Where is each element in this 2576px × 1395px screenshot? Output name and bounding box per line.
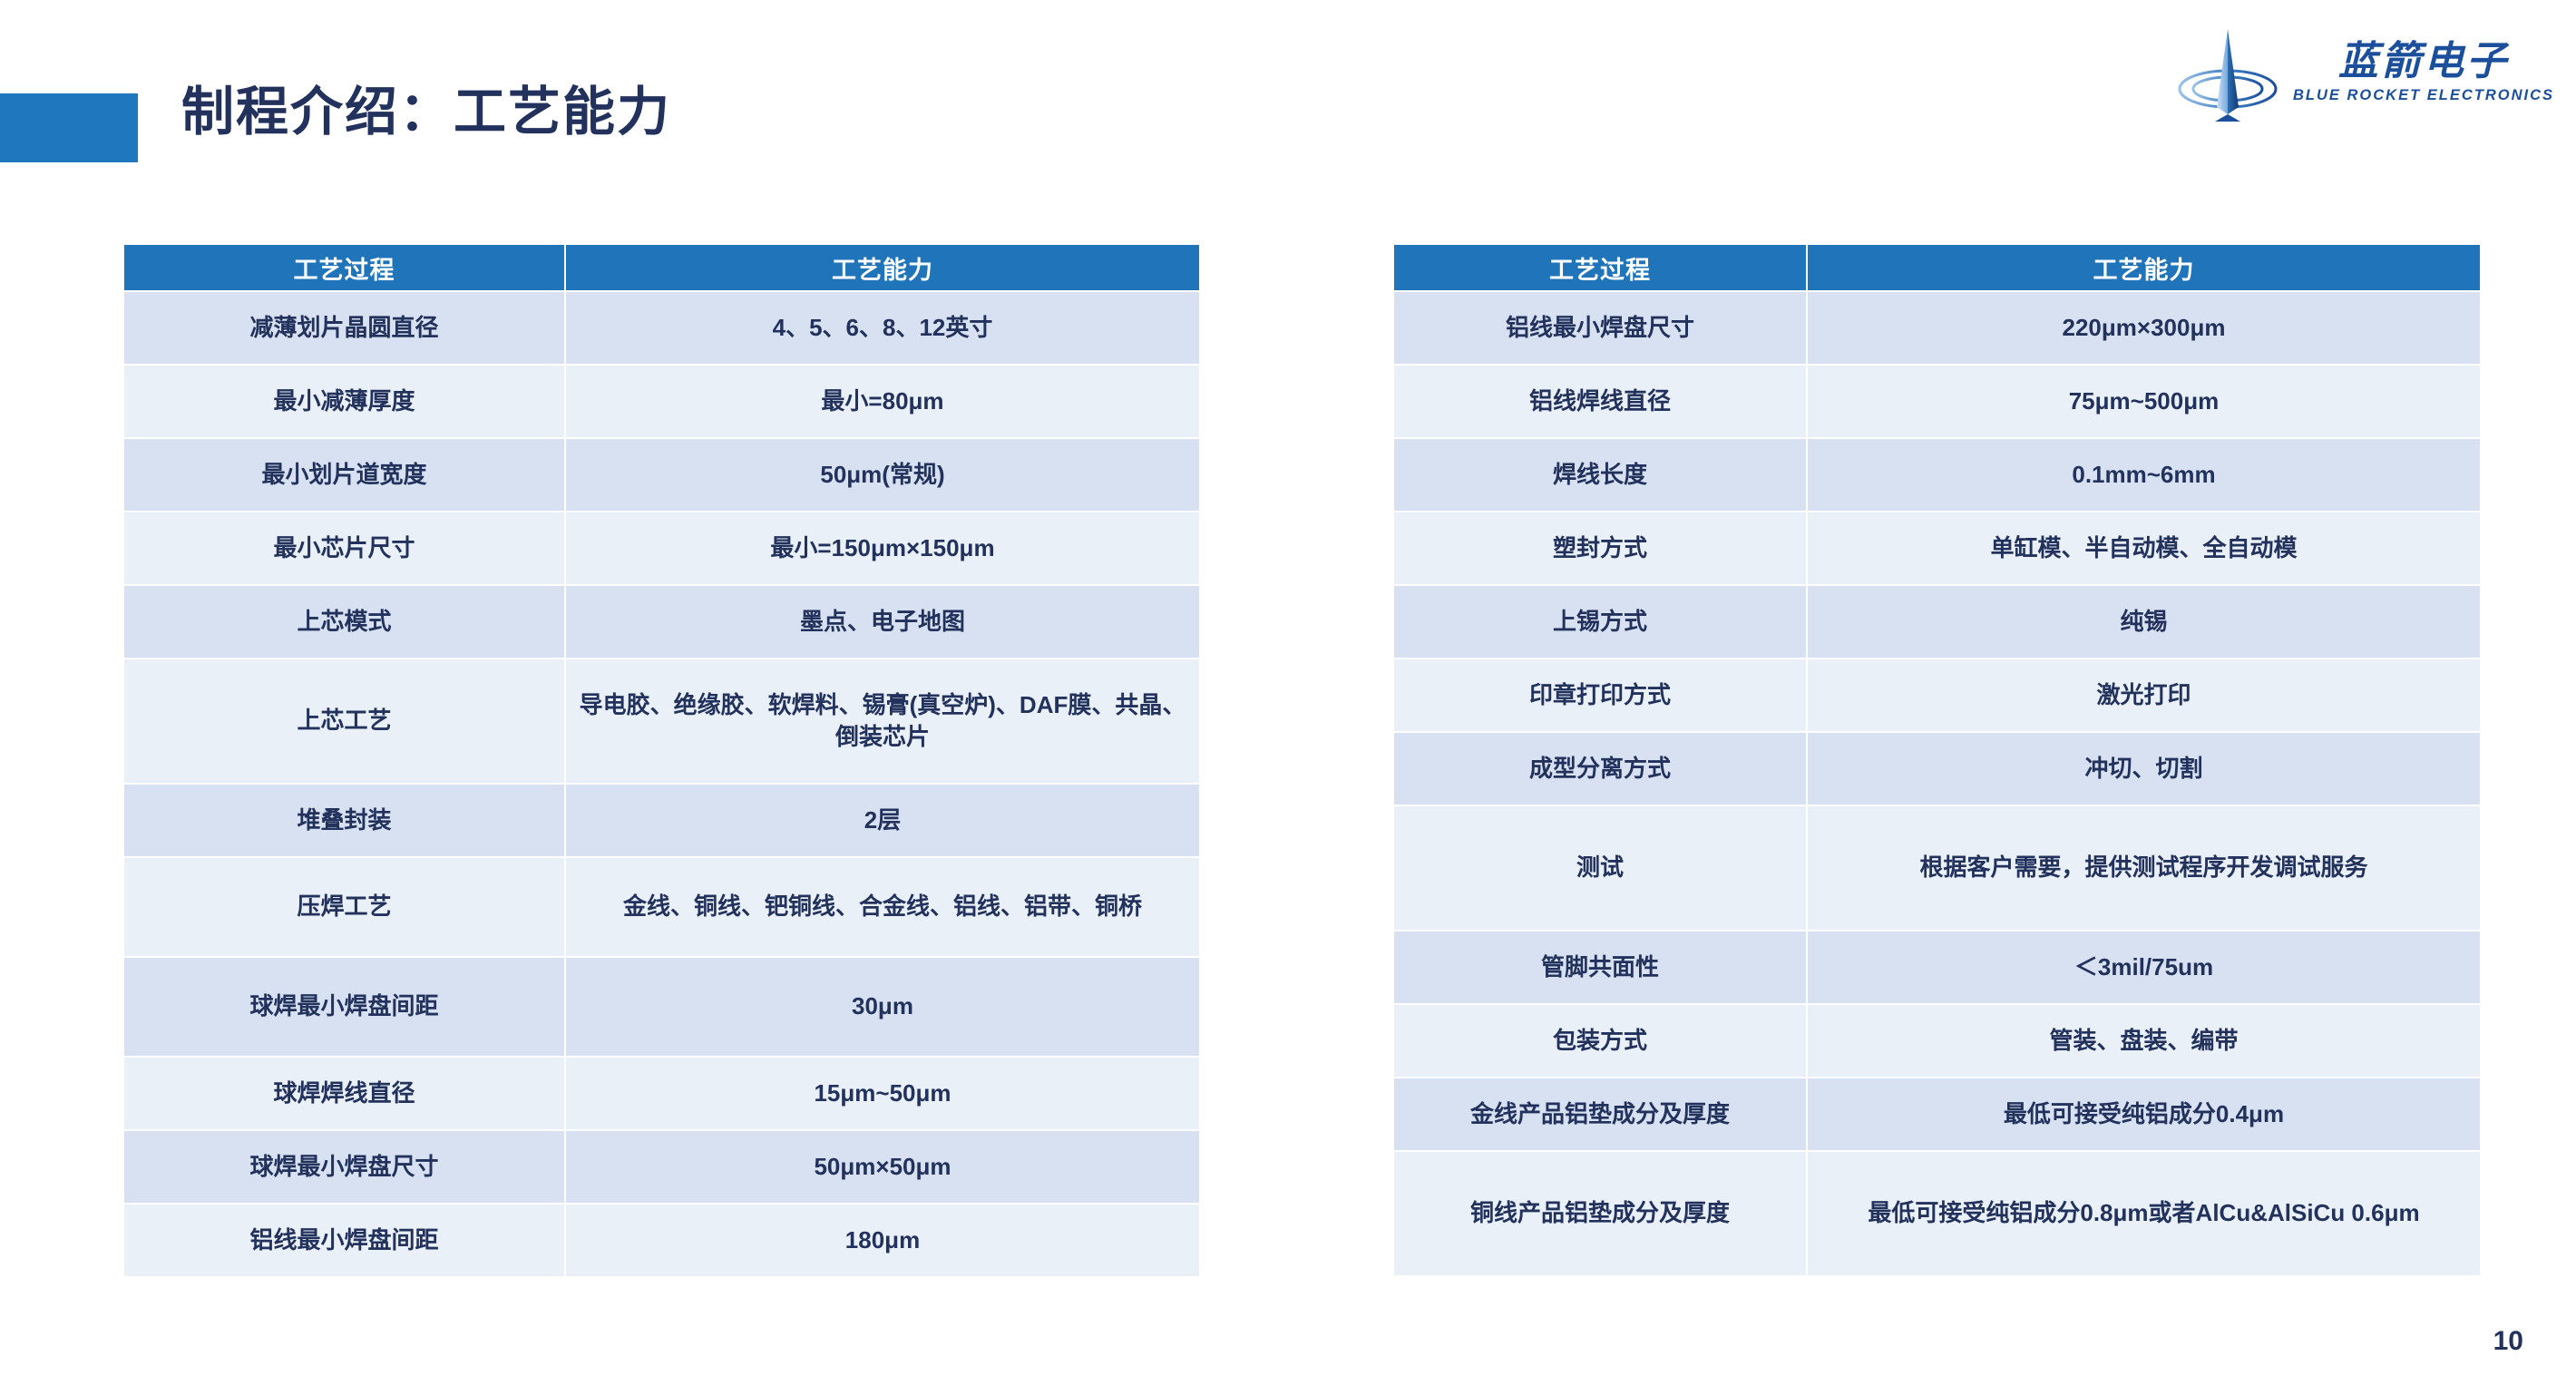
table-row: 铜线产品铝垫成分及厚度最低可接受纯铝成分0.8μm或者AlCu&AlSiCu 0… — [1394, 1152, 2480, 1275]
page-title: 制程介绍：工艺能力 — [181, 80, 671, 146]
cell-process: 最小减薄厚度 — [124, 366, 564, 437]
logo-name-cn: 蓝箭电子 — [2338, 41, 2509, 83]
table-row: 球焊最小焊盘间距30μm — [124, 958, 1199, 1056]
column-header-process: 工艺过程 — [124, 245, 564, 290]
cell-process: 球焊最小焊盘间距 — [124, 958, 564, 1056]
cell-capability: 4、5、6、8、12英寸 — [566, 292, 1199, 364]
table-row: 堆叠封装2层 — [124, 785, 1199, 856]
cell-capability: 50μm(常规) — [566, 439, 1199, 511]
cell-process: 铜线产品铝垫成分及厚度 — [1394, 1152, 1806, 1275]
table-header-row: 工艺过程 工艺能力 — [124, 245, 1199, 290]
table-row: 最小减薄厚度最小=80μm — [124, 366, 1199, 437]
cell-process: 铝线最小焊盘间距 — [124, 1205, 564, 1276]
cell-capability: 0.1mm~6mm — [1808, 439, 2480, 511]
cell-process: 球焊最小焊盘尺寸 — [124, 1131, 564, 1203]
cell-process: 成型分离方式 — [1394, 733, 1806, 805]
table-row: 铝线焊线直径75μm~500μm — [1394, 366, 2480, 437]
cell-process: 上芯工艺 — [124, 659, 564, 783]
cell-process: 焊线长度 — [1394, 439, 1806, 511]
cell-capability: 50μm×50μm — [566, 1131, 1199, 1203]
cell-capability: ＜3mil/75um — [1808, 932, 2480, 1003]
left-spec-table: 工艺过程 工艺能力 减薄划片晶圆直径4、5、6、8、12英寸最小减薄厚度最小=8… — [122, 243, 1201, 1278]
table-row: 压焊工艺金线、铜线、钯铜线、合金线、铝线、铝带、铜桥 — [124, 858, 1199, 956]
table-row: 金线产品铝垫成分及厚度最低可接受纯铝成分0.4μm — [1394, 1078, 2480, 1150]
cell-capability: 15μm~50μm — [566, 1058, 1199, 1129]
cell-process: 减薄划片晶圆直径 — [124, 292, 564, 364]
cell-process: 测试 — [1394, 806, 1806, 930]
cell-capability: 金线、铜线、钯铜线、合金线、铝线、铝带、铜桥 — [566, 858, 1199, 956]
table-row: 管脚共面性＜3mil/75um — [1394, 932, 2480, 1003]
cell-capability: 最低可接受纯铝成分0.4μm — [1808, 1078, 2480, 1150]
table-row: 球焊最小焊盘尺寸50μm×50μm — [124, 1131, 1199, 1203]
table-row: 减薄划片晶圆直径4、5、6、8、12英寸 — [124, 292, 1199, 364]
cell-process: 印章打印方式 — [1394, 659, 1806, 731]
cell-capability: 墨点、电子地图 — [566, 586, 1199, 658]
table-row: 铝线最小焊盘间距180μm — [124, 1205, 1199, 1276]
left-table-body: 减薄划片晶圆直径4、5、6、8、12英寸最小减薄厚度最小=80μm最小划片道宽度… — [124, 292, 1199, 1276]
cell-capability: 单缸模、半自动模、全自动模 — [1808, 512, 2480, 584]
right-spec-table-container: 工艺过程 工艺能力 铝线最小焊盘尺寸220μm×300μm铝线焊线直径75μm~… — [1392, 243, 2476, 1277]
cell-process: 最小划片道宽度 — [124, 439, 564, 511]
cell-process: 包装方式 — [1394, 1005, 1806, 1077]
cell-capability: 最低可接受纯铝成分0.8μm或者AlCu&AlSiCu 0.6μm — [1808, 1152, 2480, 1275]
cell-capability: 最小=80μm — [566, 366, 1199, 437]
cell-capability: 管装、盘装、编带 — [1808, 1005, 2480, 1077]
cell-process: 铝线最小焊盘尺寸 — [1394, 292, 1806, 364]
logo-name-en: BLUE ROCKET ELECTRONICS — [2293, 87, 2554, 104]
cell-process: 塑封方式 — [1394, 512, 1806, 584]
table-row: 塑封方式单缸模、半自动模、全自动模 — [1394, 512, 2480, 584]
cell-process: 球焊焊线直径 — [124, 1058, 564, 1129]
company-logo: 蓝箭电子 BLUE ROCKET ELECTRONICS — [2222, 22, 2554, 123]
cell-process: 最小芯片尺寸 — [124, 512, 564, 584]
page-number: 10 — [2493, 1326, 2523, 1357]
cell-process: 上锡方式 — [1394, 586, 1806, 658]
column-header-capability: 工艺能力 — [566, 245, 1199, 290]
table-row: 上锡方式纯锡 — [1394, 586, 2480, 658]
column-header-process: 工艺过程 — [1394, 245, 1806, 290]
cell-capability: 2层 — [566, 785, 1199, 856]
cell-capability: 最小=150μm×150μm — [566, 512, 1199, 584]
column-header-capability: 工艺能力 — [1808, 245, 2480, 290]
table-row: 铝线最小焊盘尺寸220μm×300μm — [1394, 292, 2480, 364]
cell-process: 管脚共面性 — [1394, 932, 1806, 1003]
right-spec-table: 工艺过程 工艺能力 铝线最小焊盘尺寸220μm×300μm铝线焊线直径75μm~… — [1392, 243, 2482, 1277]
cell-capability: 导电胶、绝缘胶、软焊料、锡膏(真空炉)、DAF膜、共晶、倒装芯片 — [566, 659, 1199, 783]
cell-capability: 根据客户需要，提供测试程序开发调试服务 — [1808, 806, 2480, 930]
cell-process: 上芯模式 — [124, 586, 564, 658]
title-accent-bar — [0, 93, 138, 162]
table-header-row: 工艺过程 工艺能力 — [1394, 245, 2480, 290]
cell-capability: 75μm~500μm — [1808, 366, 2480, 437]
table-row: 最小划片道宽度50μm(常规) — [124, 439, 1199, 511]
cell-capability: 激光打印 — [1808, 659, 2480, 731]
cell-capability: 纯锡 — [1808, 586, 2480, 658]
logo-wordmark: 蓝箭电子 BLUE ROCKET ELECTRONICS — [2293, 41, 2554, 104]
rocket-spire-icon — [2173, 24, 2282, 122]
table-row: 上芯模式墨点、电子地图 — [124, 586, 1199, 658]
table-row: 球焊焊线直径15μm~50μm — [124, 1058, 1199, 1129]
table-row: 上芯工艺导电胶、绝缘胶、软焊料、锡膏(真空炉)、DAF膜、共晶、倒装芯片 — [124, 659, 1199, 783]
table-row: 焊线长度0.1mm~6mm — [1394, 439, 2480, 511]
left-spec-table-container: 工艺过程 工艺能力 减薄划片晶圆直径4、5、6、8、12英寸最小减薄厚度最小=8… — [122, 243, 1195, 1278]
cell-capability: 220μm×300μm — [1808, 292, 2480, 364]
cell-process: 堆叠封装 — [124, 785, 564, 856]
table-row: 成型分离方式冲切、切割 — [1394, 733, 2480, 805]
table-row: 印章打印方式激光打印 — [1394, 659, 2480, 731]
cell-capability: 180μm — [566, 1205, 1199, 1276]
cell-capability: 冲切、切割 — [1808, 733, 2480, 805]
table-row: 测试根据客户需要，提供测试程序开发调试服务 — [1394, 806, 2480, 930]
cell-process: 金线产品铝垫成分及厚度 — [1394, 1078, 1806, 1150]
table-row: 最小芯片尺寸最小=150μm×150μm — [124, 512, 1199, 584]
cell-capability: 30μm — [566, 958, 1199, 1056]
cell-process: 铝线焊线直径 — [1394, 366, 1806, 437]
right-table-body: 铝线最小焊盘尺寸220μm×300μm铝线焊线直径75μm~500μm焊线长度0… — [1394, 292, 2480, 1275]
table-row: 包装方式管装、盘装、编带 — [1394, 1005, 2480, 1077]
cell-process: 压焊工艺 — [124, 858, 564, 956]
